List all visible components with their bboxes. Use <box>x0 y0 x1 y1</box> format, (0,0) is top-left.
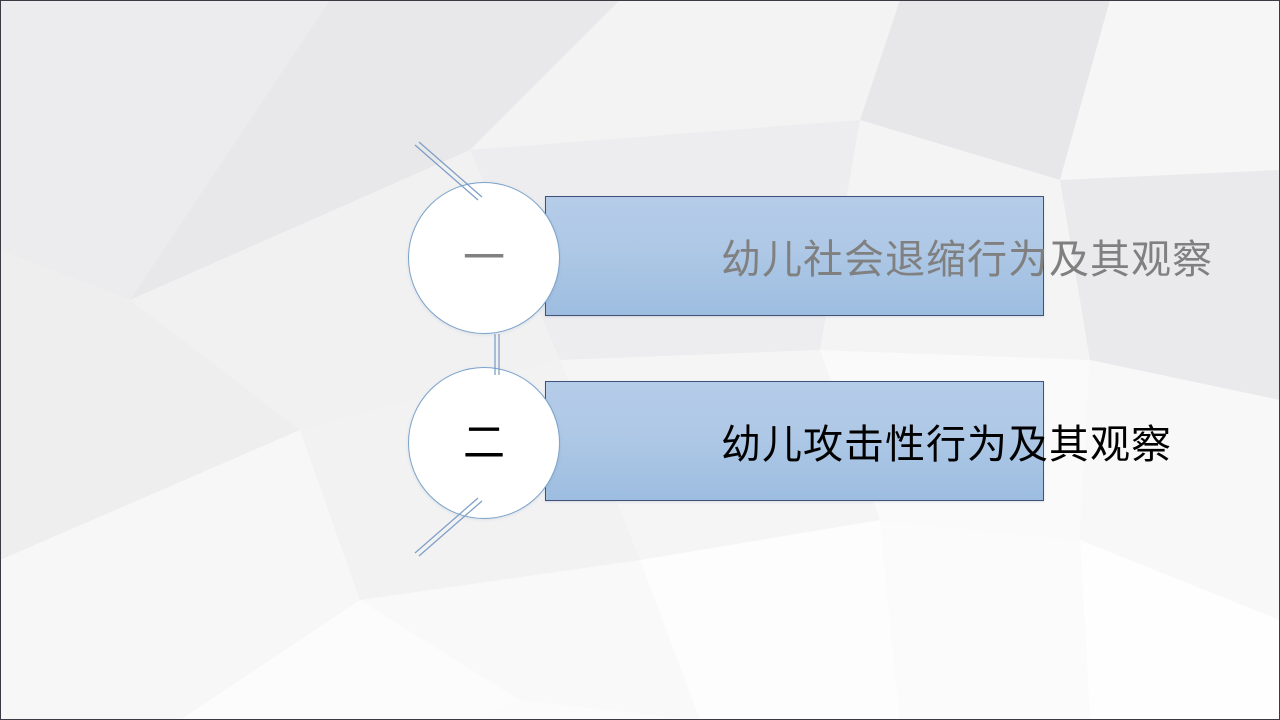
agenda-bar[interactable]: 幼儿攻击性行为及其观察 <box>545 381 1044 501</box>
presentation-slide: 幼儿社会退缩行为及其观察 一 幼儿攻击性行为及其观察 二 <box>0 0 1280 720</box>
agenda-list: 幼儿社会退缩行为及其观察 一 幼儿攻击性行为及其观察 二 <box>0 0 1280 720</box>
agenda-bar[interactable]: 幼儿社会退缩行为及其观察 <box>545 196 1044 316</box>
agenda-item-label: 幼儿攻击性行为及其观察 <box>721 382 1172 500</box>
agenda-row[interactable]: 幼儿社会退缩行为及其观察 一 <box>0 180 1280 340</box>
agenda-badge[interactable]: 二 <box>408 367 560 519</box>
agenda-badge[interactable]: 一 <box>408 182 560 334</box>
agenda-item-label: 幼儿社会退缩行为及其观察 <box>721 197 1213 315</box>
agenda-row[interactable]: 幼儿攻击性行为及其观察 二 <box>0 365 1280 525</box>
agenda-badge-number: 二 <box>463 422 505 464</box>
agenda-badge-number: 一 <box>463 237 505 279</box>
